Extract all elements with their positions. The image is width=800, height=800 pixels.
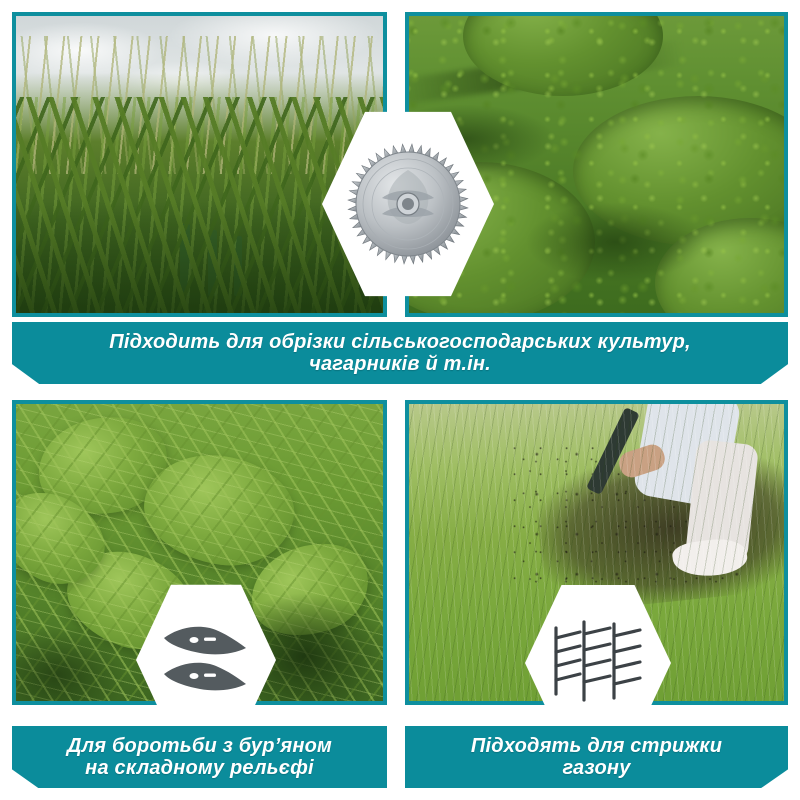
caption-top-banner: Підходить для обрізки сільськогосподарсь… — [12, 322, 788, 384]
caption-bl-line2: на складному рельєфі — [67, 757, 332, 779]
caption-br-line1: Підходять для стрижки — [471, 735, 722, 757]
caption-bottom-left-banner: Для боротьби з бур’яном на складному рел… — [12, 726, 387, 788]
caption-bl-line1: Для боротьби з бур’яном — [67, 735, 332, 757]
panel-weeds-field — [12, 400, 387, 705]
hedge-shadow — [525, 202, 705, 282]
circular-saw-blade-icon — [342, 138, 474, 270]
panel-corn-field — [12, 12, 387, 317]
caption-top-line1: Підходить для обрізки сільськогосподарсь… — [109, 331, 691, 353]
panel-lawn-mowing — [405, 400, 788, 705]
caption-br-line2: газону — [471, 757, 722, 779]
caption-bottom-right-banner: Підходять для стрижки газону — [405, 726, 788, 788]
caption-top-line2: чагарників й т.ін. — [109, 353, 691, 375]
product-feature-collage: Підходить для обрізки сільськогосподарсь… — [0, 0, 800, 800]
photo-corn-field — [12, 12, 387, 317]
nylon-trimmer-head-icon — [540, 608, 656, 705]
two-blade-knife-icon — [154, 608, 258, 705]
